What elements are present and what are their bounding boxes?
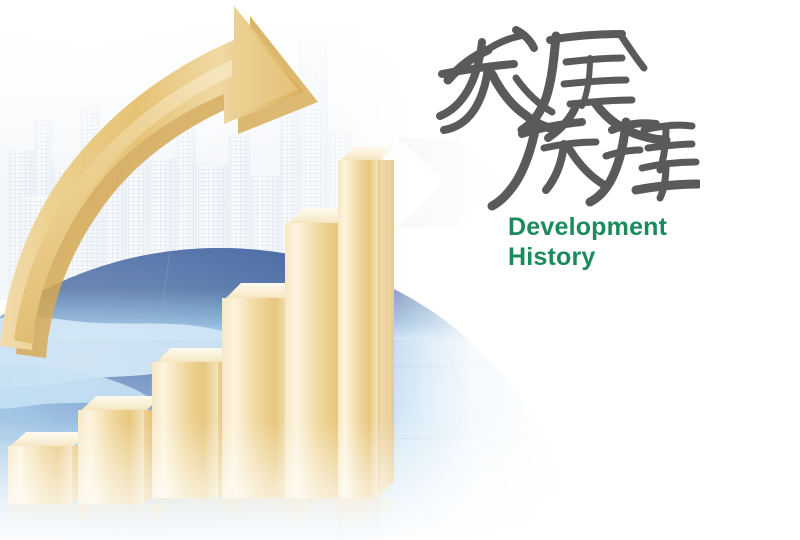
banner-image: Development History — [0, 0, 800, 540]
bar-reflection — [338, 498, 394, 532]
bar-front-face — [152, 362, 218, 498]
bar-front-face — [8, 446, 72, 504]
bar-2 — [78, 396, 162, 504]
title-cn-calligraphy — [430, 18, 700, 218]
bar-side-face — [378, 160, 394, 498]
title-en: Development History — [508, 212, 667, 272]
growth-arrow-icon — [0, 0, 360, 360]
bar-front-face — [78, 410, 144, 504]
title-block — [430, 18, 760, 218]
bar-reflection — [78, 504, 162, 532]
